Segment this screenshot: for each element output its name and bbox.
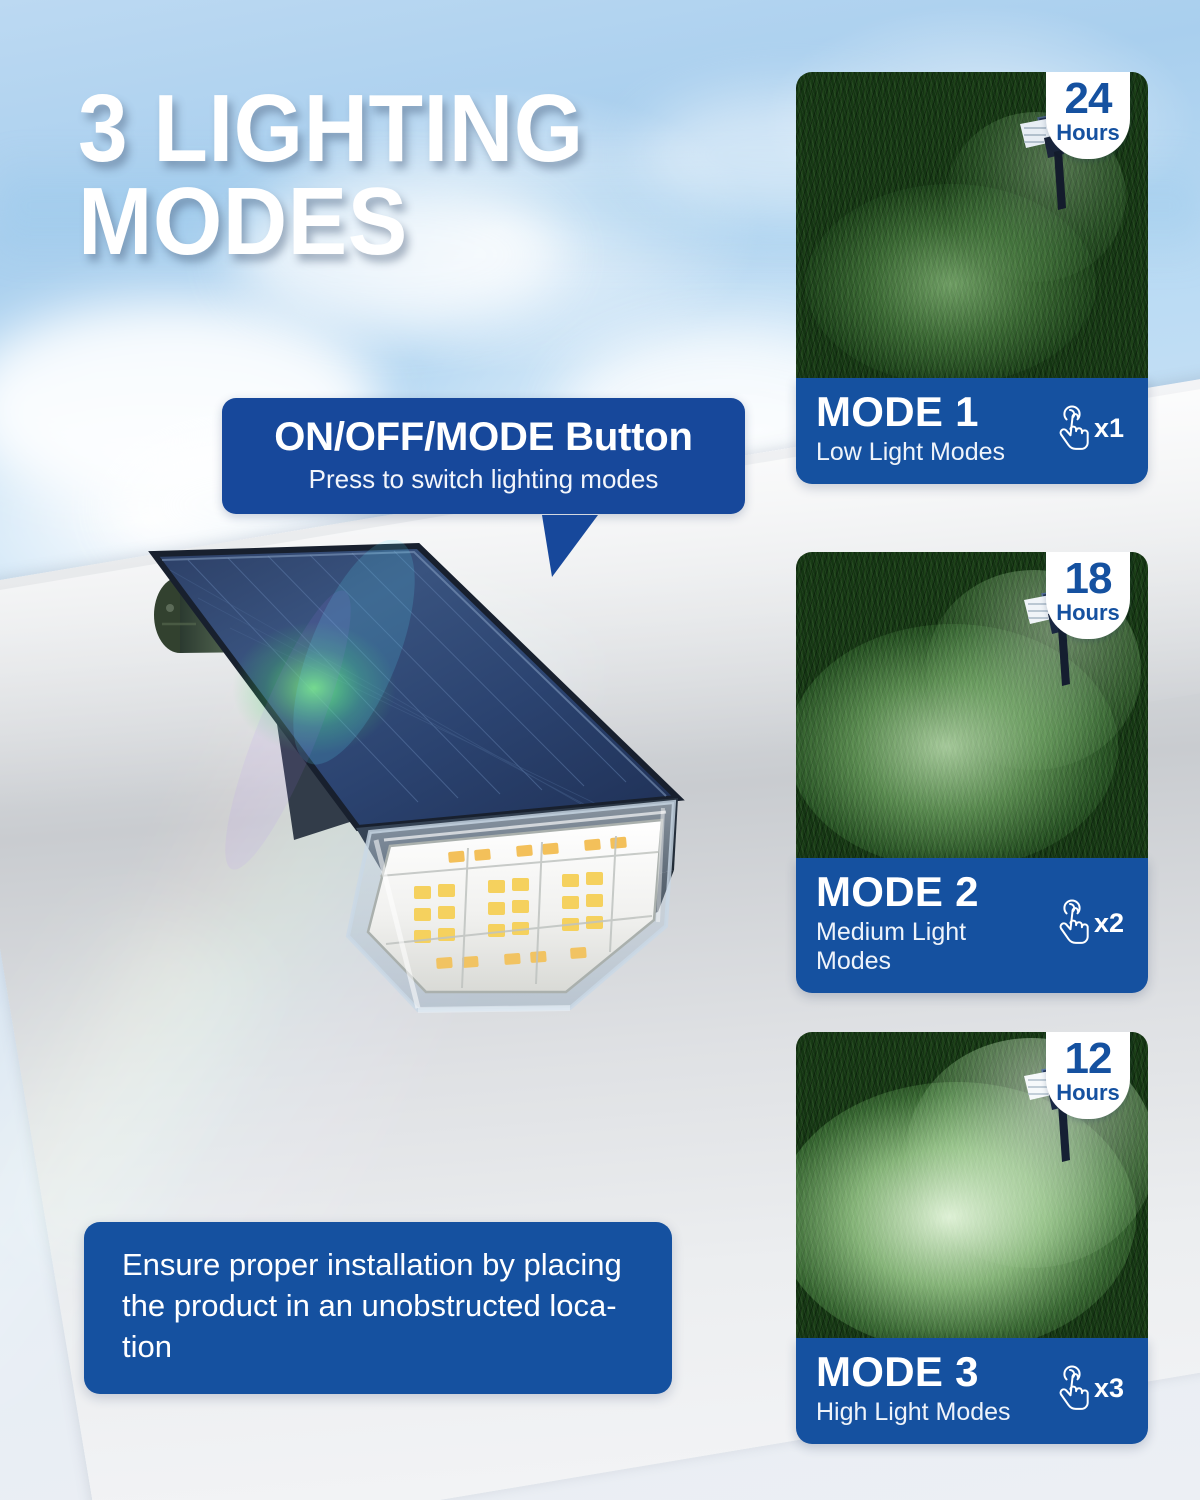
mode-title: MODE 1 [816, 391, 1005, 433]
mode-card[interactable]: 24 Hours MODE 1 Low Light Modes x1 [796, 72, 1148, 484]
mode-subtitle: High Light Modes [816, 1398, 1011, 1427]
mode-subtitle: Medium Light Modes [816, 918, 1048, 976]
installation-note: Ensure proper installation by placing th… [84, 1222, 672, 1394]
hours-badge: 18 Hours [1046, 552, 1130, 639]
tap-indicator: x3 [1048, 1365, 1128, 1413]
tap-count: x1 [1094, 415, 1124, 442]
hours-badge: 24 Hours [1046, 72, 1130, 159]
hours-value: 12 [1065, 1038, 1112, 1080]
mode-photo: 18 Hours [796, 552, 1148, 858]
tap-indicator: x2 [1048, 899, 1128, 947]
tap-indicator: x1 [1048, 405, 1128, 453]
hours-value: 18 [1065, 558, 1112, 600]
tap-hand-icon [1048, 899, 1092, 947]
tap-hand-icon [1048, 405, 1092, 453]
title-line-2: MODES [78, 175, 683, 268]
hours-label: Hours [1056, 122, 1120, 144]
mode-text-group: MODE 1 Low Light Modes [816, 391, 1005, 467]
mode-text-group: MODE 2 Medium Light Modes [816, 871, 1048, 976]
tap-hand-icon [1048, 1365, 1092, 1413]
mode-subtitle: Low Light Modes [816, 438, 1005, 467]
mode-title: MODE 2 [816, 871, 1048, 913]
hours-label: Hours [1056, 1082, 1120, 1104]
product-photo-solar-light [118, 540, 698, 1060]
hours-value: 24 [1065, 78, 1112, 120]
page-title: 3 LIGHTING MODES [78, 82, 683, 268]
mode-photo: 12 Hours [796, 1032, 1148, 1338]
tap-count: x2 [1094, 910, 1124, 937]
hours-badge: 12 Hours [1046, 1032, 1130, 1119]
product-infographic: 3 LIGHTING MODES ON/OFF/MODE Button Pres… [0, 0, 1200, 1500]
mode-label-bar: MODE 2 Medium Light Modes x2 [796, 858, 1148, 993]
title-line-1: 3 LIGHTING [78, 75, 584, 182]
callout-title: ON/OFF/MODE Button [242, 416, 725, 458]
callout-subtitle: Press to switch lighting modes [242, 465, 725, 494]
mode-title: MODE 3 [816, 1351, 1011, 1393]
mode-label-bar: MODE 1 Low Light Modes x1 [796, 378, 1148, 484]
mode-card[interactable]: 12 Hours MODE 3 High Light Modes x3 [796, 1032, 1148, 1444]
hours-label: Hours [1056, 602, 1120, 624]
mode-button-callout: ON/OFF/MODE Button Press to switch light… [222, 398, 745, 514]
mode-photo: 24 Hours [796, 72, 1148, 378]
mode-card[interactable]: 18 Hours MODE 2 Medium Light Modes x2 [796, 552, 1148, 993]
mode-label-bar: MODE 3 High Light Modes x3 [796, 1338, 1148, 1444]
mode-text-group: MODE 3 High Light Modes [816, 1351, 1011, 1427]
tap-count: x3 [1094, 1375, 1124, 1402]
